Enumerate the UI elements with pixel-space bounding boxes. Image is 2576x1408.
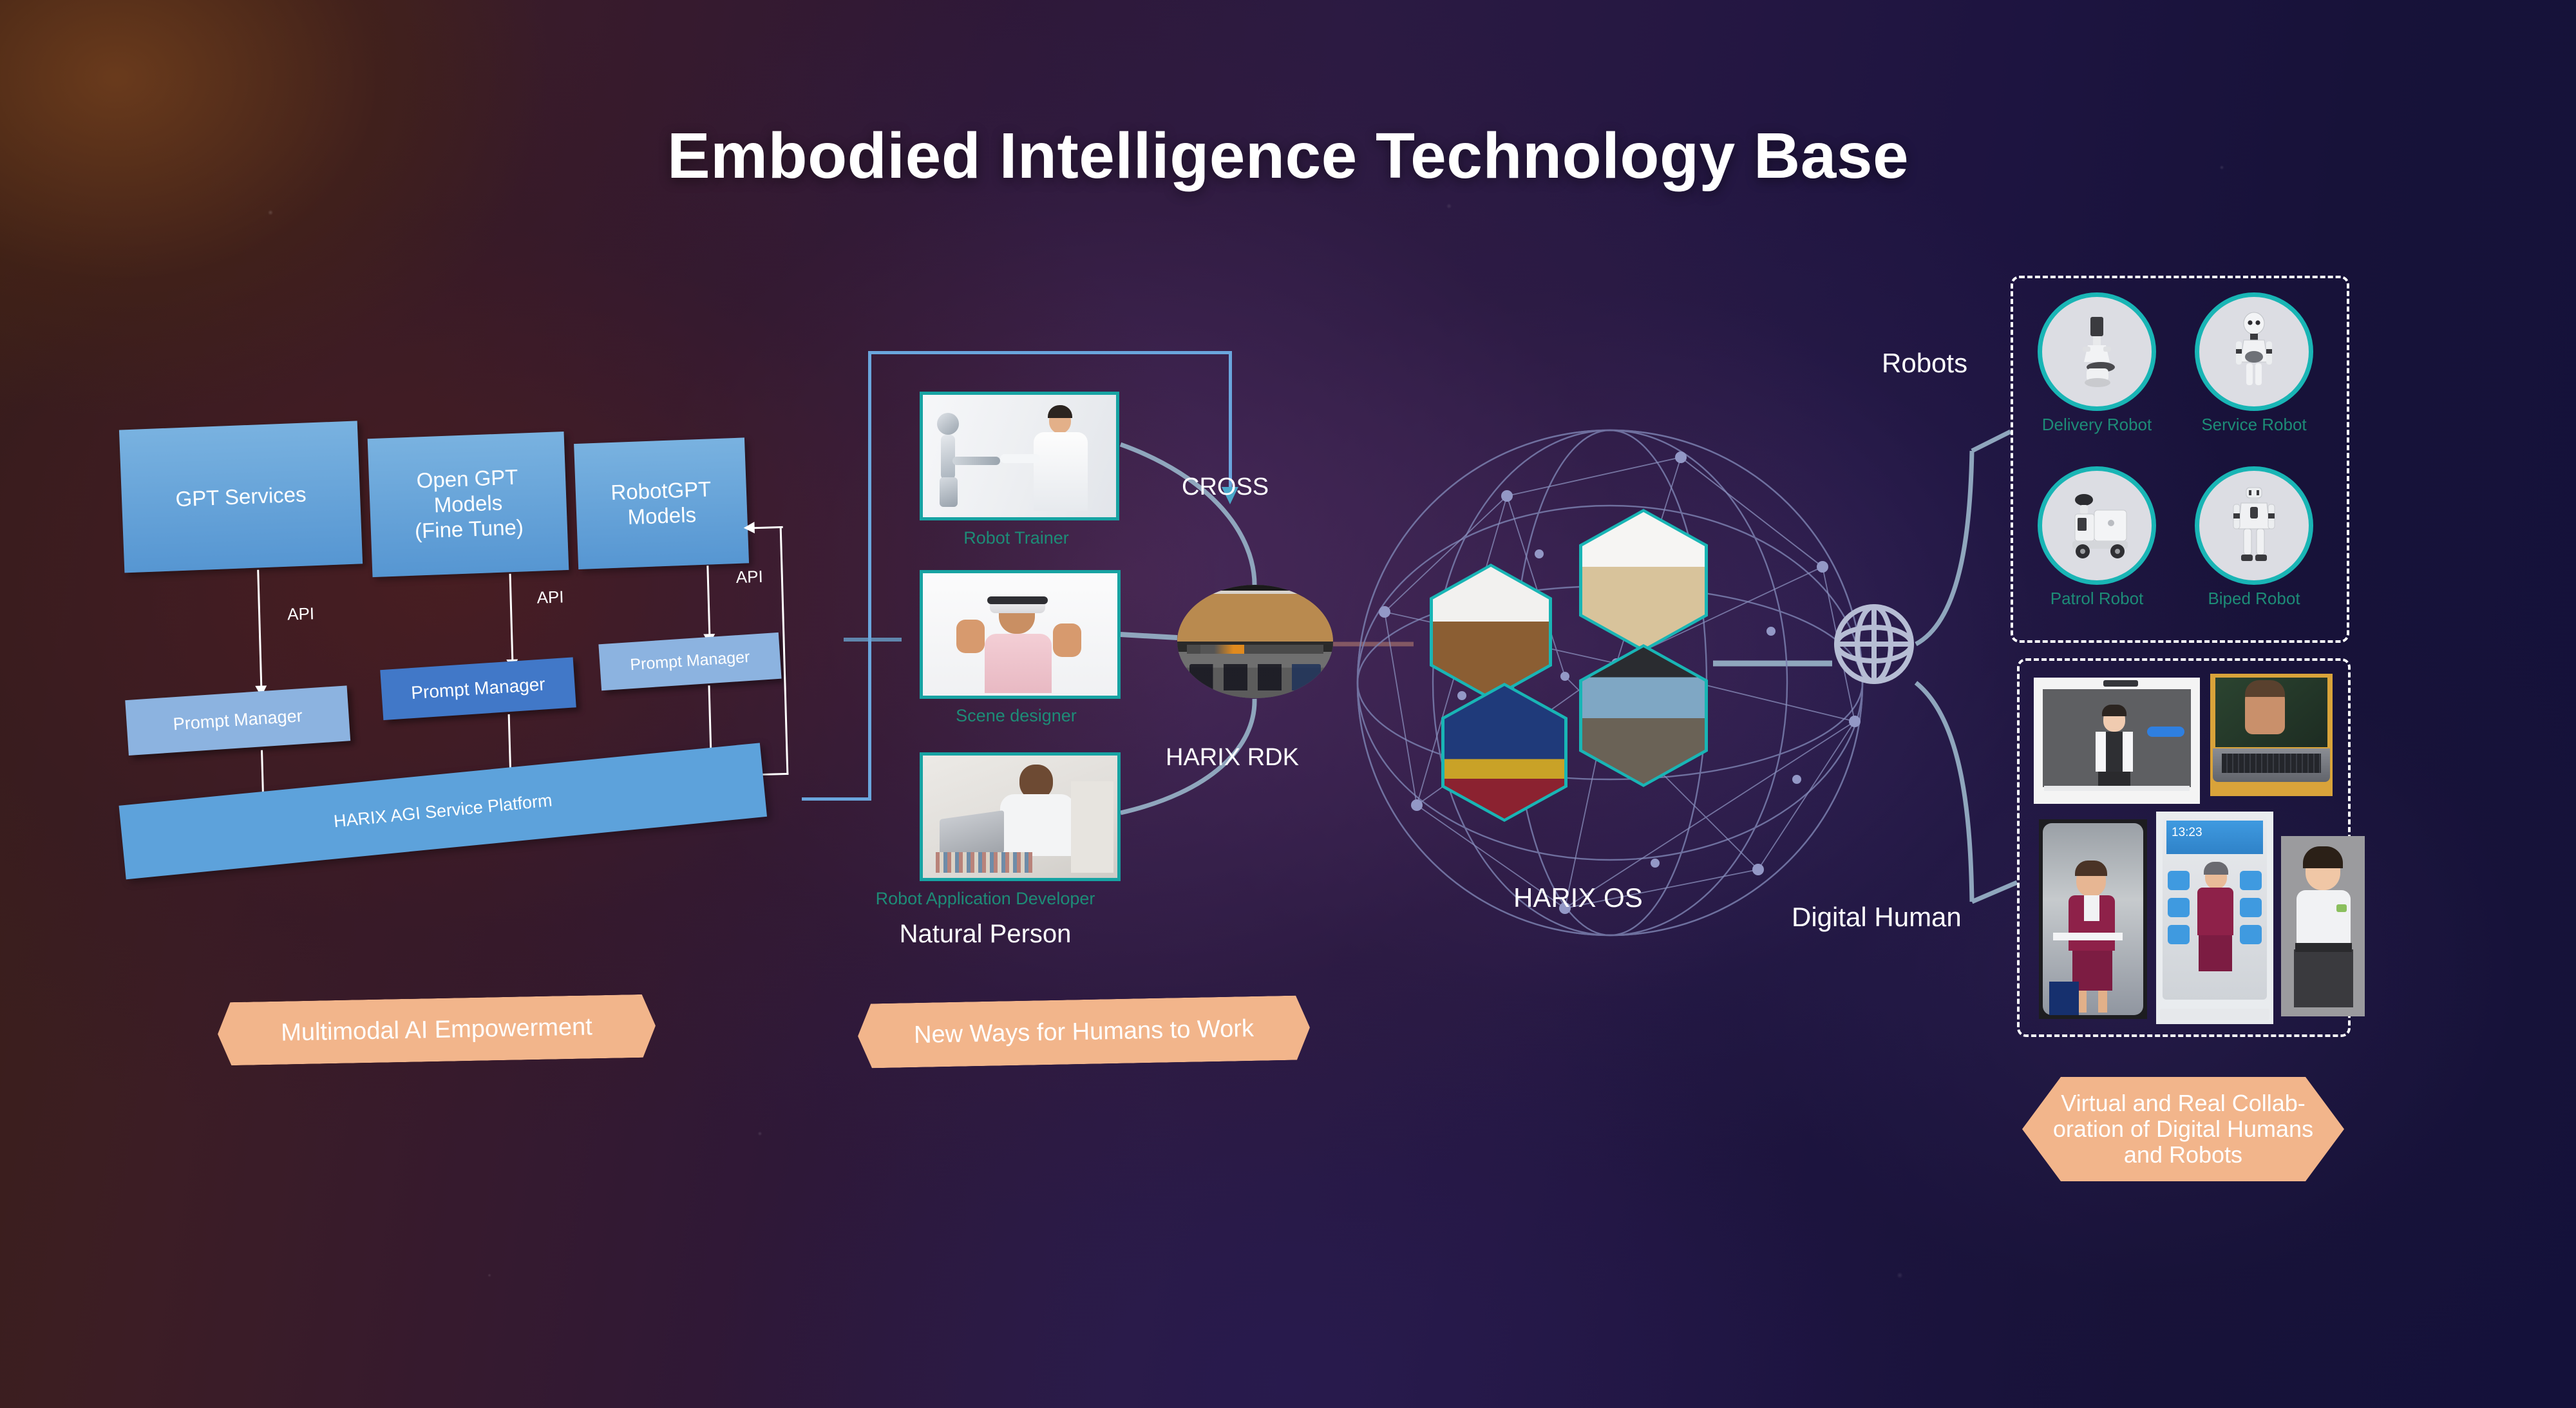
arrow-robotgpt-to-pm3 bbox=[706, 566, 710, 635]
caption-scene-designer: Scene designer bbox=[887, 706, 1145, 726]
digital-human-kiosk-tile[interactable]: 13:23 bbox=[2156, 812, 2273, 1024]
box-prompt-manager-2[interactable]: Prompt Manager bbox=[380, 657, 576, 720]
card-robot-trainer[interactable] bbox=[920, 392, 1119, 520]
card-robot-application-developer[interactable] bbox=[920, 752, 1121, 881]
label-cross: CROSS bbox=[1182, 473, 1269, 501]
label-natural-person: Natural Person bbox=[889, 920, 1082, 949]
arrow-gpt-to-pm1 bbox=[257, 570, 262, 687]
robot-item-service[interactable]: Service Robot bbox=[2179, 292, 2329, 435]
diagram-canvas: Embodied Intelligence Technology Base GP… bbox=[0, 0, 2576, 1408]
connector-bottom bbox=[802, 797, 871, 801]
robots-panel: Delivery Robot Service Robot bbox=[2011, 276, 2349, 643]
robot-label-service: Service Robot bbox=[2179, 415, 2329, 435]
api-label-1: API bbox=[287, 604, 315, 624]
api-label-2: API bbox=[536, 587, 564, 607]
card-scene-designer[interactable] bbox=[920, 570, 1121, 699]
patrol-robot-icon bbox=[2038, 466, 2156, 585]
robot-app-developer-photo bbox=[923, 756, 1117, 878]
box-harix-agi-service-platform-label: HARIX AGI Service Platform bbox=[333, 790, 553, 832]
multimodal-ai-group: GPT Services Open GPT Models (Fine Tune)… bbox=[113, 395, 853, 866]
box-prompt-manager-2-label: Prompt Manager bbox=[410, 674, 545, 704]
robot-item-biped[interactable]: Biped Robot bbox=[2179, 466, 2329, 609]
digital-human-avatar-tile[interactable] bbox=[2281, 836, 2365, 1016]
feedback-line-vertical bbox=[780, 526, 789, 775]
digital-human-phone-tile[interactable] bbox=[2039, 819, 2147, 1019]
rdk-node-editor bbox=[1177, 642, 1333, 698]
box-open-gpt-models[interactable]: Open GPT Models (Fine Tune) bbox=[368, 432, 569, 577]
rdk-viewport bbox=[1177, 585, 1333, 642]
box-harix-agi-service-platform[interactable]: HARIX AGI Service Platform bbox=[119, 743, 767, 879]
box-robotgpt-models[interactable]: RobotGPT Models bbox=[574, 437, 749, 569]
digital-human-panel: 13:23 bbox=[2017, 658, 2351, 1037]
banner-2-label: New Ways for Humans to Work bbox=[914, 1015, 1255, 1049]
connector-stub-left bbox=[844, 638, 902, 642]
box-gpt-services-label: GPT Services bbox=[175, 482, 307, 512]
box-robotgpt-models-label: RobotGPT Models bbox=[611, 477, 713, 531]
banner-virtual-real-collaboration: Virtual and Real Collab- oration of Digi… bbox=[2022, 1077, 2344, 1181]
banner-1-label: Multimodal AI Empowerment bbox=[281, 1013, 592, 1047]
robot-item-delivery[interactable]: Delivery Robot bbox=[2022, 292, 2172, 435]
globe-icon bbox=[1832, 602, 1916, 686]
caption-robot-application-developer: Robot Application Developer bbox=[857, 889, 1114, 909]
caption-robot-trainer: Robot Trainer bbox=[887, 528, 1145, 548]
box-prompt-manager-1[interactable]: Prompt Manager bbox=[125, 685, 350, 756]
service-robot-icon bbox=[2195, 292, 2313, 411]
robot-label-delivery: Delivery Robot bbox=[2022, 415, 2172, 435]
connector-top bbox=[868, 351, 1232, 354]
label-digital-human: Digital Human bbox=[1792, 902, 1962, 933]
biped-robot-icon bbox=[2195, 466, 2313, 585]
label-harix-rdk: HARIX RDK bbox=[1166, 744, 1299, 772]
feedback-arrow-to-robotgpt bbox=[754, 526, 783, 529]
label-robots: Robots bbox=[1882, 348, 1967, 379]
api-label-3: API bbox=[735, 567, 763, 587]
banner-3-label: Virtual and Real Collab- oration of Digi… bbox=[2053, 1090, 2313, 1168]
digital-human-screen-tile[interactable] bbox=[2034, 678, 2200, 804]
robot-item-patrol[interactable]: Patrol Robot bbox=[2022, 466, 2172, 609]
delivery-robot-icon bbox=[2038, 292, 2156, 411]
page-title: Embodied Intelligence Technology Base bbox=[0, 119, 2576, 193]
banner-multimodal-ai-empowerment: Multimodal AI Empowerment bbox=[217, 994, 656, 1065]
box-prompt-manager-3-label: Prompt Manager bbox=[630, 648, 751, 675]
robot-label-biped: Biped Robot bbox=[2179, 589, 2329, 609]
box-open-gpt-models-label: Open GPT Models (Fine Tune) bbox=[413, 465, 524, 544]
arrow-open-to-pm2 bbox=[509, 574, 514, 661]
box-prompt-manager-1-label: Prompt Manager bbox=[173, 706, 303, 735]
banner-new-ways-for-humans-to-work: New Ways for Humans to Work bbox=[857, 995, 1311, 1068]
digital-human-laptop-tile[interactable] bbox=[2210, 674, 2333, 796]
box-gpt-services[interactable]: GPT Services bbox=[119, 421, 363, 573]
connector-arrow-to-cross bbox=[1229, 351, 1232, 488]
label-harix-os: HARIX OS bbox=[1513, 882, 1643, 913]
scene-designer-photo bbox=[923, 573, 1117, 696]
robot-label-patrol: Patrol Robot bbox=[2022, 589, 2172, 609]
robot-trainer-photo bbox=[923, 395, 1116, 517]
connector-vertical bbox=[868, 351, 871, 801]
box-prompt-manager-3[interactable]: Prompt Manager bbox=[598, 633, 781, 690]
harix-rdk-preview[interactable] bbox=[1177, 585, 1333, 698]
